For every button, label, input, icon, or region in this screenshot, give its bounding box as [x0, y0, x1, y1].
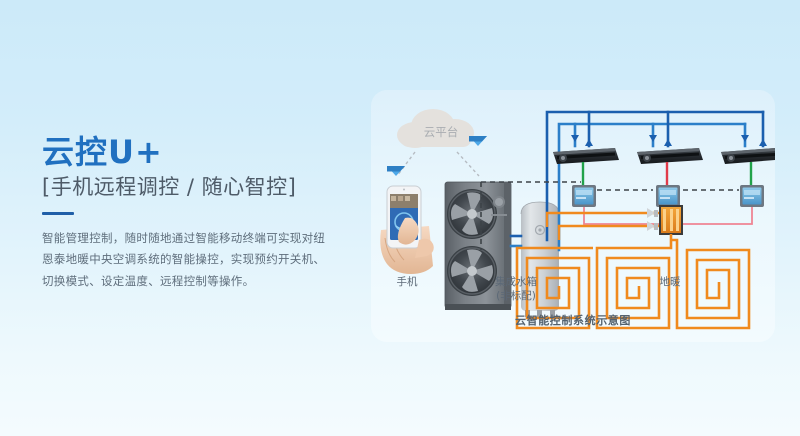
hero-description: 智能管理控制，随时随地通过智能移动终端可实现对纽恩泰地暖中央空调系统的智能操控，… [42, 228, 332, 292]
cloud-signal-line-right [457, 152, 479, 176]
water-tank-label-line1: 集成水箱 [476, 276, 556, 290]
cloud-signal-line-left [397, 152, 415, 176]
floor-heating-manifold [660, 206, 682, 234]
mobile-phone-in-hand [380, 186, 434, 274]
fan-coil-unit [553, 148, 619, 164]
floor-heating-label: 地暖 [630, 276, 710, 290]
cloud-platform-label: 云平台 [406, 124, 476, 140]
phone-label: 手机 [381, 276, 433, 290]
title-divider [42, 212, 74, 215]
fan-coil-unit [721, 148, 775, 164]
water-tank-label-line2: (非标配) [476, 290, 556, 304]
floor-heating-pipes [547, 213, 663, 240]
page-title: 云控U+ [42, 135, 342, 171]
thermostat-controller[interactable] [656, 185, 680, 207]
control-wiring [583, 162, 751, 186]
hero-text-block: 云控U+ [手机远程调控 / 随心智控] 智能管理控制，随时随地通过智能移动终端… [42, 135, 342, 292]
pipe-valve-fitting [647, 208, 658, 231]
fan-coil-unit [637, 148, 703, 164]
promo-banner: 云控U+ [手机远程调控 / 随心智控] 智能管理控制，随时随地通过智能移动终端… [0, 0, 800, 436]
page-subtitle: [手机远程调控 / 随心智控] [42, 175, 342, 200]
thermostat-controller[interactable] [740, 185, 764, 207]
signal-icon-phone [387, 166, 405, 176]
water-tank-label: 集成水箱 (非标配) [476, 276, 556, 303]
thermostat-controller[interactable] [572, 185, 596, 207]
diagram-caption: 云智能控制系统示意图 [371, 312, 775, 328]
